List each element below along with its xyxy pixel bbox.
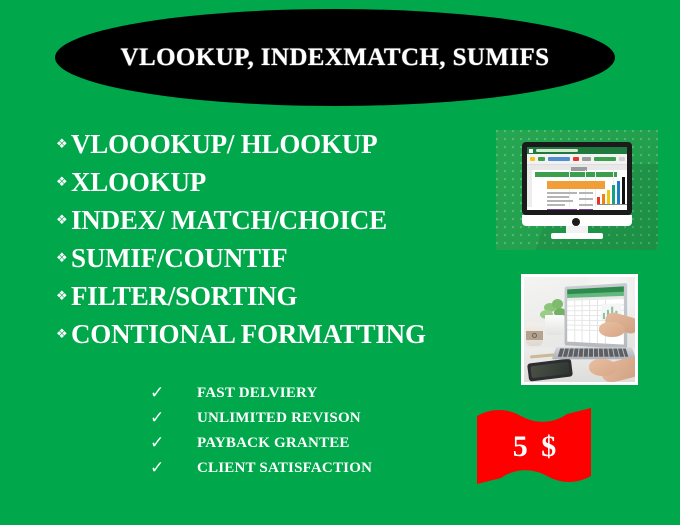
diamond-bullet-icon: ❖ xyxy=(56,289,71,302)
chart-bar xyxy=(597,197,600,204)
ribbon-group-3 xyxy=(548,157,570,161)
list-item: ✓ UNLIMITED REVISON xyxy=(150,406,372,431)
list-item: ❖ SUMIF/COUNTIF xyxy=(56,245,506,283)
desktop-monitor-illustration xyxy=(496,130,658,250)
plant-pot xyxy=(545,315,564,335)
data-row-line xyxy=(547,192,577,194)
feature-label: FILTER/SORTING xyxy=(71,283,297,310)
grid-line xyxy=(597,300,598,343)
chart-bar xyxy=(622,177,625,204)
spreadsheet-titlebar xyxy=(527,147,627,154)
feature-label: SUMIF/COUNTIF xyxy=(71,245,287,272)
row-headers xyxy=(527,170,532,207)
feature-list: ❖ VLOOOKUP/ HLOOKUP ❖ XLOOKUP ❖ INDEX/ M… xyxy=(56,131,506,359)
cup-logo xyxy=(532,333,537,338)
grid-line xyxy=(574,301,575,342)
diamond-bullet-icon: ❖ xyxy=(56,175,71,188)
data-row-line xyxy=(579,198,593,200)
diamond-bullet-icon: ❖ xyxy=(56,251,71,264)
ribbon-group-1 xyxy=(530,157,535,161)
feature-label: CONTIONAL FORMATTING xyxy=(71,321,426,348)
data-row-line xyxy=(579,192,593,194)
power-button-icon xyxy=(572,218,580,226)
photo-scene xyxy=(524,277,635,382)
guarantee-list: ✓ FAST DELVIERY ✓ UNLIMITED REVISON ✓ PA… xyxy=(150,381,372,481)
price-badge: 5 $ xyxy=(477,406,591,488)
header-row-highlight xyxy=(535,172,617,177)
ribbon-group-4 xyxy=(573,157,579,161)
phone-screen xyxy=(530,362,569,379)
checkmark-icon: ✓ xyxy=(150,410,197,427)
chart-bar xyxy=(607,190,610,204)
list-item: ❖ INDEX/ MATCH/CHOICE xyxy=(56,207,506,245)
data-cell-orange xyxy=(547,181,589,189)
spreadsheet-ribbon xyxy=(527,154,627,165)
guarantee-label: UNLIMITED REVISON xyxy=(197,410,361,427)
chart-bar xyxy=(602,194,605,204)
checkmark-icon: ✓ xyxy=(150,435,197,452)
laptop-workspace-photo xyxy=(521,274,638,385)
data-cell-purple xyxy=(547,209,577,210)
column-headers xyxy=(567,296,624,301)
feature-label: VLOOOKUP/ HLOOKUP xyxy=(71,131,377,158)
grid-line xyxy=(589,300,590,343)
list-item: ✓ FAST DELVIERY xyxy=(150,381,372,406)
ribbon-group-7 xyxy=(619,157,625,161)
app-icon xyxy=(529,149,533,153)
list-item: ❖ XLOOKUP xyxy=(56,169,506,207)
feature-label: XLOOKUP xyxy=(71,169,206,196)
chart-bar xyxy=(612,185,615,204)
list-item: ✓ CLIENT SATISFACTION xyxy=(150,456,372,481)
page-title: VLOOKUP, INDEXMATCH, SUMIFS xyxy=(121,44,550,72)
title-banner: VLOOKUP, INDEXMATCH, SUMIFS xyxy=(55,9,615,106)
list-item: ❖ CONTIONAL FORMATTING xyxy=(56,321,506,359)
data-cell-orange xyxy=(589,181,605,189)
data-row-line xyxy=(547,204,565,206)
diamond-bullet-icon: ❖ xyxy=(56,213,71,226)
diamond-bullet-icon: ❖ xyxy=(56,137,71,150)
monitor-screen xyxy=(527,147,627,210)
monitor-base xyxy=(551,233,603,239)
checkmark-icon: ✓ xyxy=(150,385,197,402)
grid-line xyxy=(582,300,583,342)
data-row-line xyxy=(547,196,569,198)
right-hand xyxy=(599,322,625,337)
guarantee-label: CLIENT SATISFACTION xyxy=(197,460,372,477)
price-amount: 5 $ xyxy=(477,406,591,488)
laptop-keyboard xyxy=(558,349,629,357)
titlebar-filename xyxy=(536,149,578,152)
list-item: ❖ VLOOOKUP/ HLOOKUP xyxy=(56,131,506,169)
ribbon-group-5 xyxy=(582,157,591,161)
guarantee-label: FAST DELVIERY xyxy=(197,385,318,402)
data-row-line xyxy=(547,200,573,202)
diamond-bullet-icon: ❖ xyxy=(56,327,71,340)
guarantee-label: PAYBACK GRANTEE xyxy=(197,435,350,452)
ribbon-group-6 xyxy=(594,157,616,161)
chart-bar xyxy=(617,181,620,204)
monitor-bezel xyxy=(522,142,632,215)
feature-label: INDEX/ MATCH/CHOICE xyxy=(71,207,387,234)
left-hand xyxy=(589,359,617,376)
chart-baseline xyxy=(597,204,627,205)
list-item: ✓ PAYBACK GRANTEE xyxy=(150,431,372,456)
data-cell-purple xyxy=(579,209,593,210)
data-row-line xyxy=(579,204,593,206)
ribbon-group-2 xyxy=(538,157,545,161)
list-item: ❖ FILTER/SORTING xyxy=(56,283,506,321)
checkmark-icon: ✓ xyxy=(150,460,197,477)
